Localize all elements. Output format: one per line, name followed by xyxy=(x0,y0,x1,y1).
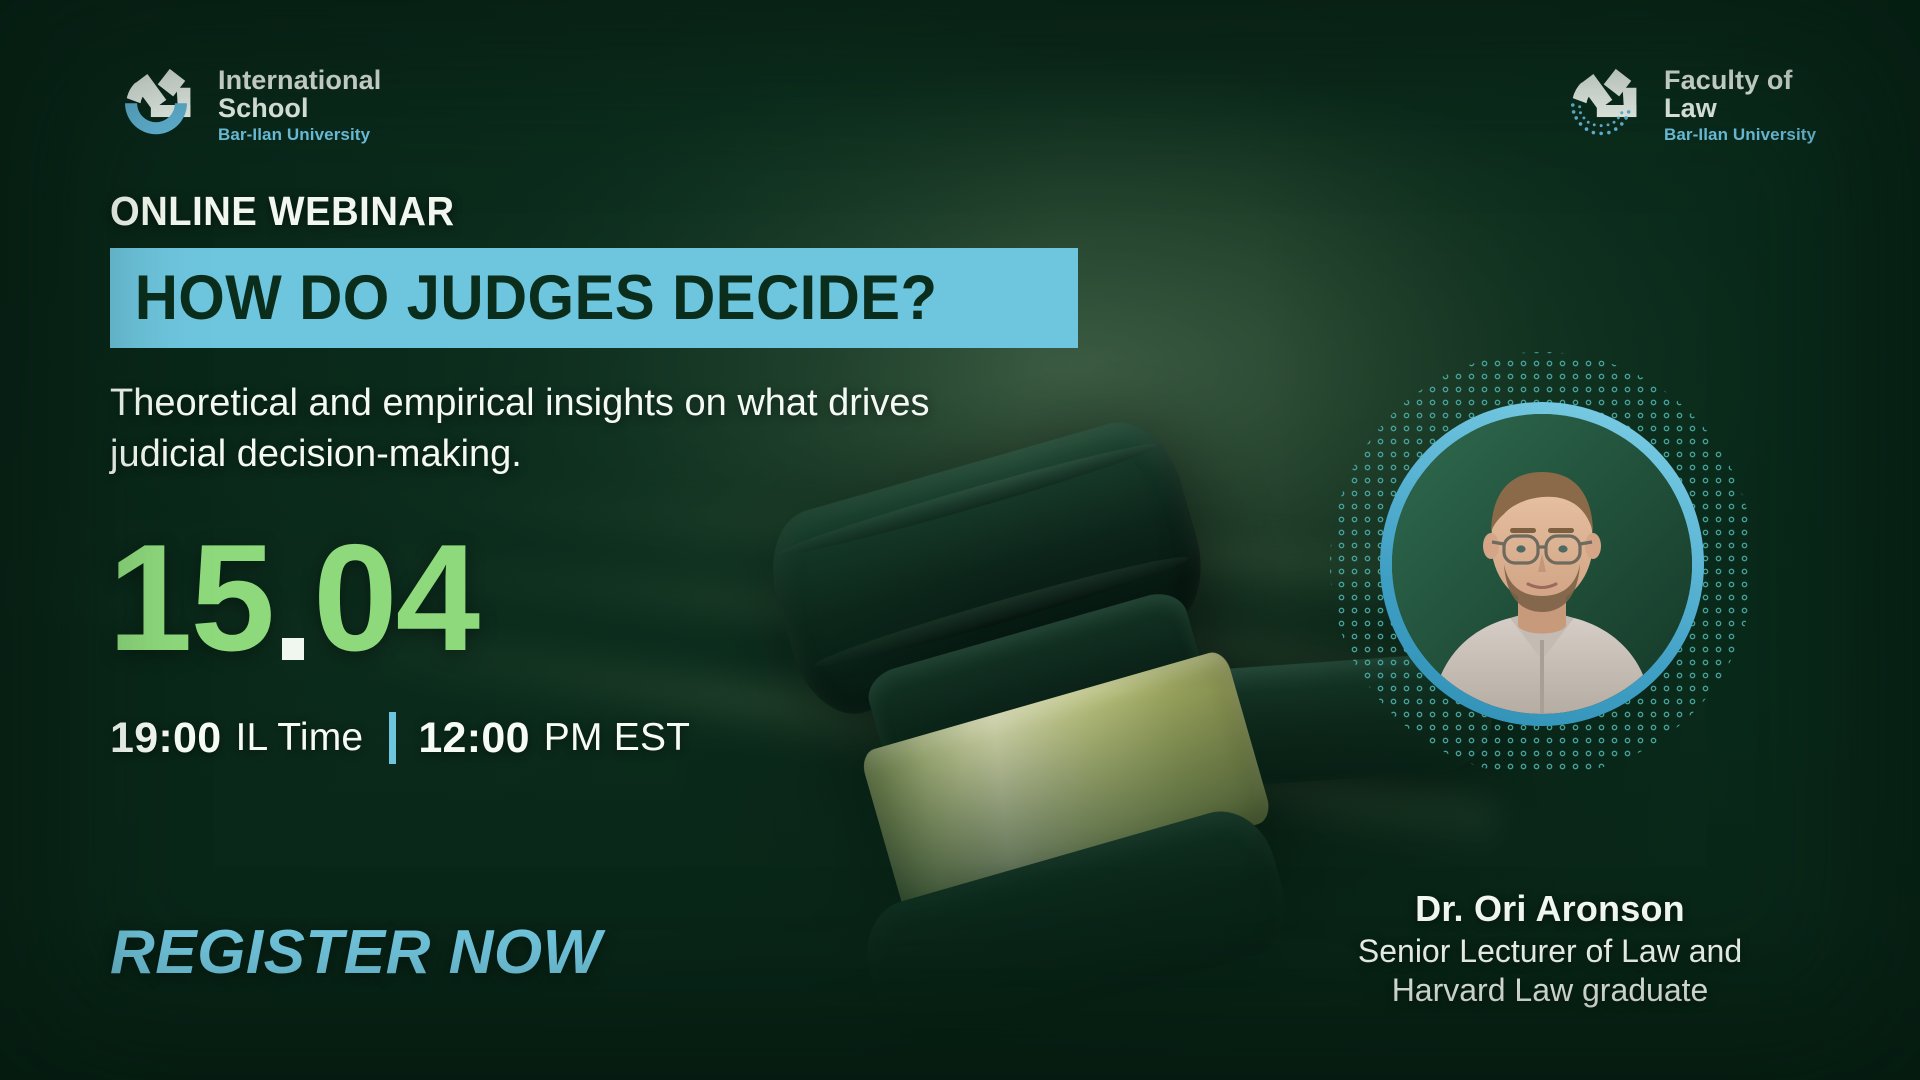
event-date: 15 04 xyxy=(108,522,478,674)
speaker-name: Dr. Ori Aronson xyxy=(1300,888,1800,930)
time-il: 19:00 xyxy=(110,714,221,763)
logo-left-line2: School xyxy=(218,94,381,122)
logo-right-line1: Faculty of xyxy=(1664,66,1816,94)
time-est: 12:00 xyxy=(418,714,529,763)
poster-canvas: International School Bar-Ilan University xyxy=(0,0,1920,1080)
eyebrow-label: ONLINE WEBINAR xyxy=(110,188,455,235)
date-separator-dot xyxy=(282,638,304,660)
logo-left-line1: International xyxy=(218,66,381,94)
title-banner: HOW DO JUDGES DECIDE? xyxy=(110,248,1078,348)
speaker-role-line1: Senior Lecturer of Law and xyxy=(1300,932,1800,971)
page-title: HOW DO JUDGES DECIDE? xyxy=(110,262,937,334)
event-date-day: 15 xyxy=(108,522,273,674)
time-il-label: IL Time xyxy=(235,716,363,760)
bar-ilan-faculty-of-law-logo-icon xyxy=(1558,62,1646,148)
register-now-cta[interactable]: REGISTER NOW xyxy=(110,917,602,988)
subtitle-text: Theoretical and empirical insights on wh… xyxy=(110,378,1010,480)
logo-international-school[interactable]: International School Bar-Ilan University xyxy=(112,62,381,148)
speaker-role: Senior Lecturer of Law and Harvard Law g… xyxy=(1300,932,1800,1010)
logo-faculty-of-law[interactable]: Faculty of Law Bar-Ilan University xyxy=(1558,62,1816,148)
event-date-month: 04 xyxy=(313,522,478,674)
speaker-role-line2: Harvard Law graduate xyxy=(1300,971,1800,1010)
speaker-info: Dr. Ori Aronson Senior Lecturer of Law a… xyxy=(1300,888,1800,1010)
speaker-portrait-group xyxy=(1322,344,1762,784)
logo-left-sub: Bar-Ilan University xyxy=(218,126,381,144)
time-est-label: PM EST xyxy=(544,716,690,760)
bar-ilan-university-logo-icon xyxy=(112,62,200,148)
logo-right-line2: Law xyxy=(1664,94,1816,122)
time-divider xyxy=(389,712,396,764)
logo-right-sub: Bar-Ilan University xyxy=(1664,126,1816,144)
portrait-blue-ring xyxy=(1380,402,1704,726)
avatar xyxy=(1392,414,1692,714)
event-time-row: 19:00 IL Time 12:00 PM EST xyxy=(110,712,690,764)
